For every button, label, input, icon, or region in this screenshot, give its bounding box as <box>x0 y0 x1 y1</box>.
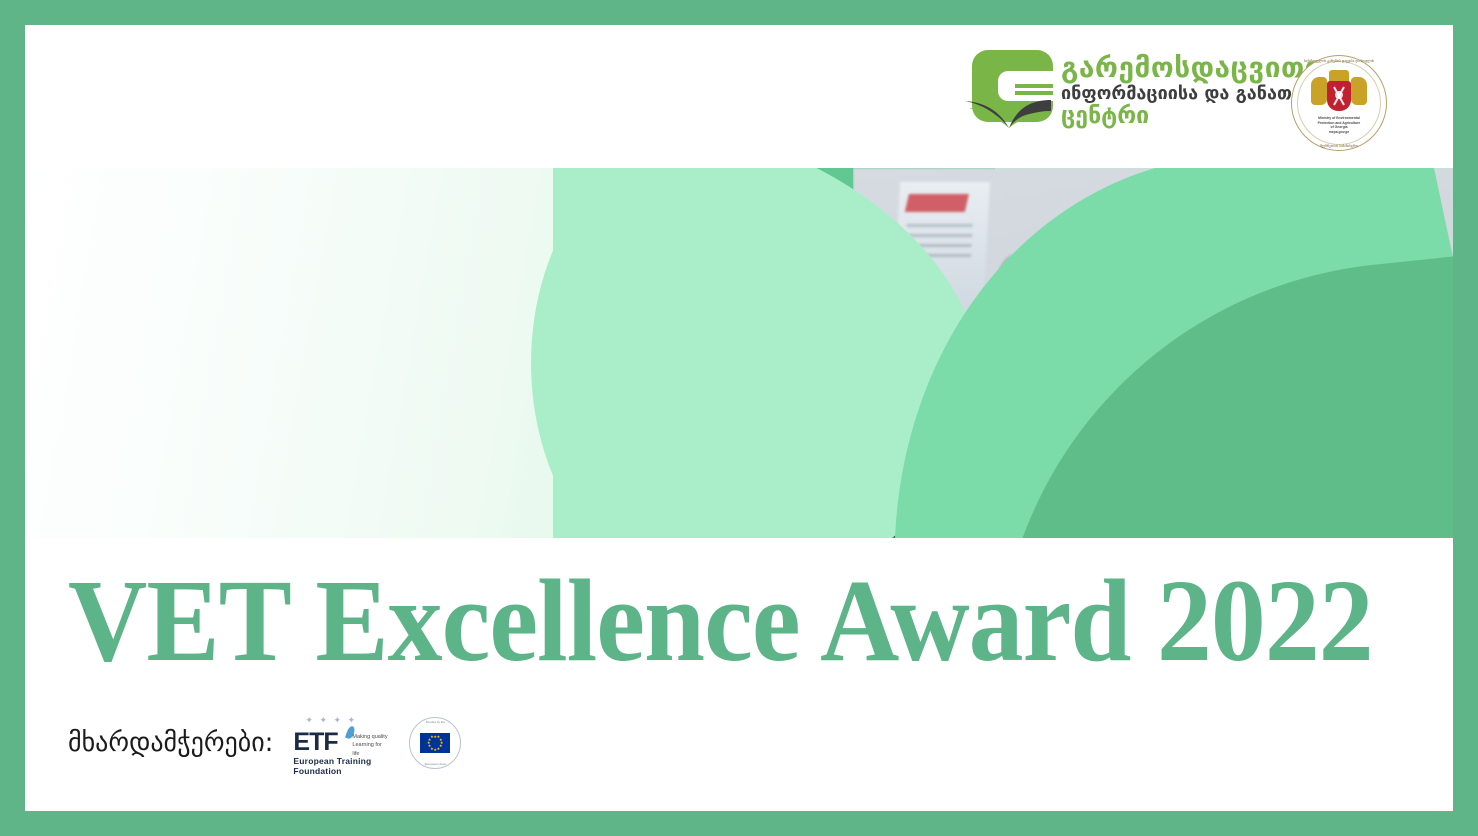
supporters-label: მხარდამჭერები: <box>68 728 273 758</box>
poster-root: გარემოსდაცვითი ინფორმაციისა და განათლები… <box>0 0 1478 836</box>
etf-full-name: European Training Foundation <box>293 756 389 776</box>
european-union-emblem: Funded by the ★★★★★★★★★★★★ European Unio… <box>409 717 461 769</box>
eu-star-icon: ★ <box>430 735 434 739</box>
title-area: VET Excellence Award 2022 <box>25 538 1453 698</box>
poster-card: გარემოსდაცვითი ინფორმაციისა და განათლები… <box>25 25 1453 811</box>
saint-george-emblem-icon <box>1327 81 1351 111</box>
etf-logo: ✦ ✦ ✦ ✦ ETF Making quality Learning for … <box>293 715 389 771</box>
seal-caption: Ministry of Environmental Protection and… <box>1291 116 1387 134</box>
crown-icon <box>1329 70 1349 81</box>
ministry-seal: საქართველოს გარემოს დაცვისა და სოფლის Mi… <box>1291 55 1387 151</box>
etf-tagline: Making quality Learning for life <box>352 733 389 758</box>
supporters-row: მხარდამჭერები: ✦ ✦ ✦ ✦ ETF Making qualit… <box>68 715 461 771</box>
seal-arc-top: საქართველოს გარემოს დაცვისა და სოფლის <box>1291 59 1387 63</box>
etf-acronym: ETF <box>293 728 337 757</box>
eu-arc-bottom: European Union <box>409 762 461 766</box>
open-book-icon <box>965 80 1053 132</box>
hero-banner <box>25 168 1453 538</box>
eu-flag-icon: ★★★★★★★★★★★★ <box>420 733 450 753</box>
lion-left-icon <box>1311 77 1327 105</box>
eu-arc-top: Funded by the <box>409 720 461 724</box>
header-logo-bar: გარემოსდაცვითი ინფორმაციისა და განათლები… <box>25 25 1453 168</box>
seal-arc-bottom: მეურნეობის სამინისტრო <box>1291 144 1387 148</box>
lion-right-icon <box>1351 77 1367 105</box>
page-title: VET Excellence Award 2022 <box>68 562 1373 680</box>
eu-star-icon: ★ <box>437 747 441 751</box>
book-in-frame-icon <box>965 50 1053 132</box>
